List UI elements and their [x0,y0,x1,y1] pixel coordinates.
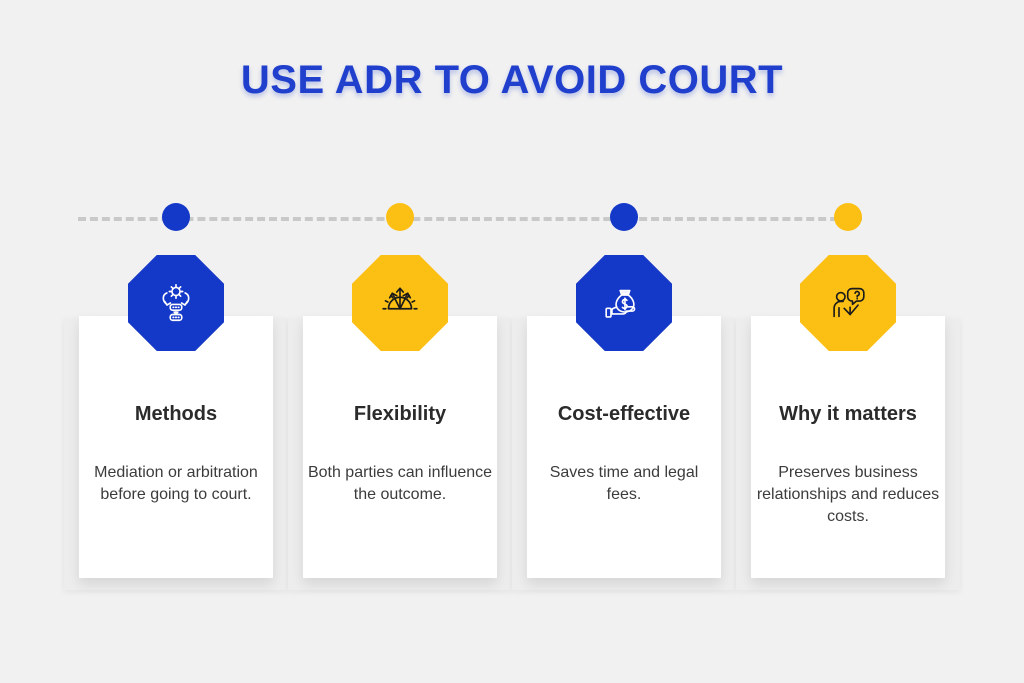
person-question-check-icon [800,255,896,351]
timeline-dot-2 [386,203,414,231]
hand-money-bag-icon [576,255,672,351]
card-cost-effective: Cost-effective Saves time and legal fees… [512,255,736,655]
card-heading: Why it matters [759,402,937,427]
card-surface: Methods Mediation or arbitration before … [79,316,273,578]
page-title: USE ADR TO AVOID COURT [0,58,1024,103]
timeline [78,215,862,221]
card-heading: Flexibility [311,402,489,427]
card-methods: Methods Mediation or arbitration before … [64,255,288,655]
card-heading: Methods [87,402,265,427]
timeline-dot-1 [162,203,190,231]
infographic-canvas: USE ADR TO AVOID COURT Methods Mediation… [0,0,1024,683]
card-surface: Cost-effective Saves time and legal fees… [527,316,721,578]
timeline-dot-4 [834,203,862,231]
card-flexibility: Flexibility Both parties can influence t… [288,255,512,655]
timeline-dashed-line [78,217,862,221]
cards-row: Methods Mediation or arbitration before … [0,255,1024,655]
card-surface: Why it matters Preserves business relati… [751,316,945,578]
card-heading: Cost-effective [535,402,713,427]
card-surface: Flexibility Both parties can influence t… [303,316,497,578]
card-body-text: Both parties can influence the outcome. [307,462,493,506]
card-body-text: Preserves business relationships and red… [755,462,941,528]
card-body-text: Saves time and legal fees. [531,462,717,506]
card-why-it-matters: Why it matters Preserves business relati… [736,255,960,655]
card-body-text: Mediation or arbitration before going to… [83,462,269,506]
timeline-dot-3 [610,203,638,231]
